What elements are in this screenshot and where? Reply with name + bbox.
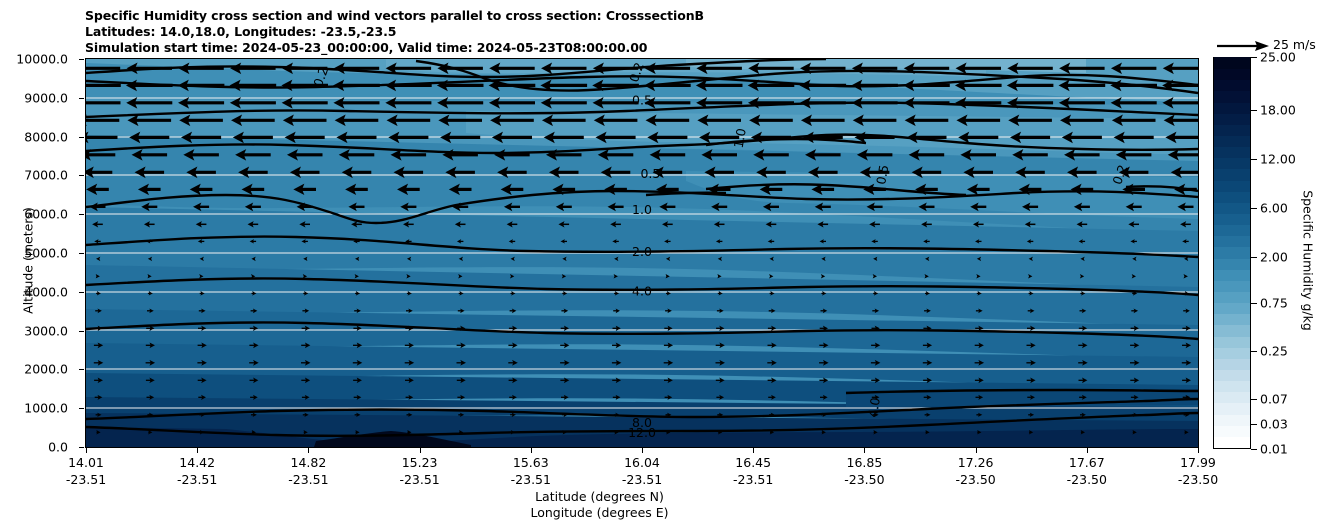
x-tick-mark <box>531 448 532 453</box>
x-tick-label-longitude: -23.51 <box>66 472 106 487</box>
x-tick-label-longitude: -23.51 <box>511 472 551 487</box>
x-tick-mark <box>308 448 309 453</box>
x-tick-label-latitude: 17.67 <box>1069 455 1105 470</box>
x-tick-label-latitude: 16.45 <box>735 455 771 470</box>
x-tick-mark <box>864 448 865 453</box>
colorbar-band <box>1214 158 1250 170</box>
x-tick-label-longitude: -23.51 <box>288 472 328 487</box>
colorbar-band <box>1214 403 1250 415</box>
colorbar-label: Specific Humidity g/kg <box>1301 131 1316 391</box>
x-axis-tick-labels: 14.01-23.5114.42-23.5114.82-23.5115.23-2… <box>0 0 1326 526</box>
colorbar-band <box>1214 436 1250 448</box>
colorbar-band <box>1214 302 1250 314</box>
colorbar-tick-mark <box>1251 351 1257 352</box>
x-axis-title-longitude: Longitude (degrees E) <box>0 505 1199 520</box>
colorbar-tick-label: 0.25 <box>1260 344 1288 359</box>
colorbar-band <box>1214 68 1250 80</box>
colorbar-band <box>1214 369 1250 381</box>
x-tick-label-latitude: 14.01 <box>68 455 104 470</box>
colorbar-band <box>1214 135 1250 147</box>
colorbar-band <box>1214 269 1250 281</box>
colorbar-band <box>1214 314 1250 326</box>
x-tick-label-latitude: 15.23 <box>402 455 438 470</box>
colorbar-band <box>1214 191 1250 203</box>
colorbar-band <box>1214 236 1250 248</box>
x-tick-mark <box>976 448 977 453</box>
x-tick-label-longitude: -23.50 <box>1178 472 1218 487</box>
colorbar-band <box>1214 169 1250 181</box>
colorbar-tick-label: 0.75 <box>1260 296 1288 311</box>
colorbar-tick-label: 18.00 <box>1260 102 1296 117</box>
colorbar-band <box>1214 291 1250 303</box>
colorbar-tick-mark <box>1251 399 1257 400</box>
colorbar-tick-mark <box>1251 110 1257 111</box>
colorbar-tick-label: 12.00 <box>1260 151 1296 166</box>
x-tick-label-longitude: -23.51 <box>399 472 439 487</box>
x-tick-mark <box>1087 448 1088 453</box>
x-tick-mark <box>197 448 198 453</box>
colorbar-band <box>1214 202 1250 214</box>
colorbar-tick-mark <box>1251 303 1257 304</box>
colorbar-band <box>1214 358 1250 370</box>
colorbar-band <box>1214 280 1250 292</box>
colorbar-band <box>1214 57 1250 69</box>
colorbar-tick-mark <box>1251 449 1257 450</box>
colorbar-band <box>1214 347 1250 359</box>
colorbar-band <box>1214 336 1250 348</box>
x-tick-mark <box>420 448 421 453</box>
colorbar-tick-label: 0.07 <box>1260 391 1288 406</box>
colorbar-tick-mark <box>1251 159 1257 160</box>
colorbar-band <box>1214 80 1250 92</box>
x-tick-label-latitude: 16.04 <box>624 455 660 470</box>
x-tick-label-latitude: 15.63 <box>513 455 549 470</box>
x-tick-label-latitude: 17.99 <box>1180 455 1216 470</box>
x-tick-mark <box>1198 448 1199 453</box>
x-tick-label-longitude: -23.51 <box>733 472 773 487</box>
x-tick-label-longitude: -23.51 <box>177 472 217 487</box>
x-tick-label-longitude: -23.50 <box>1067 472 1107 487</box>
x-tick-label-latitude: 14.42 <box>179 455 215 470</box>
colorbar-band <box>1214 146 1250 158</box>
colorbar-tick-mark <box>1251 257 1257 258</box>
colorbar-tick-mark <box>1251 57 1257 58</box>
colorbar-tick-label: 0.03 <box>1260 417 1288 432</box>
x-tick-label-latitude: 16.85 <box>846 455 882 470</box>
colorbar-band <box>1214 414 1250 426</box>
colorbar-band <box>1214 213 1250 225</box>
colorbar-band <box>1214 224 1250 236</box>
colorbar-tick-label: 6.00 <box>1260 200 1288 215</box>
x-tick-label-longitude: -23.51 <box>622 472 662 487</box>
x-tick-label-latitude: 17.26 <box>958 455 994 470</box>
x-tick-mark <box>642 448 643 453</box>
colorbar-band <box>1214 425 1250 437</box>
colorbar-tick-label: 2.00 <box>1260 249 1288 264</box>
colorbar-band <box>1214 180 1250 192</box>
x-tick-label-longitude: -23.50 <box>844 472 884 487</box>
colorbar-band <box>1214 392 1250 404</box>
colorbar-tick-mark <box>1251 208 1257 209</box>
colorbar <box>1213 57 1251 449</box>
colorbar-band <box>1214 258 1250 270</box>
colorbar-tick-label: 25.00 <box>1260 50 1296 65</box>
colorbar-tick-label: 0.01 <box>1260 442 1288 457</box>
colorbar-band <box>1214 380 1250 392</box>
colorbar-band <box>1214 91 1250 103</box>
colorbar-band <box>1214 247 1250 259</box>
colorbar-band <box>1214 102 1250 114</box>
colorbar-band <box>1214 124 1250 136</box>
colorbar-tick-mark <box>1251 424 1257 425</box>
x-tick-mark <box>753 448 754 453</box>
x-tick-label-latitude: 14.82 <box>290 455 326 470</box>
chart-figure: Specific Humidity cross section and wind… <box>0 0 1326 526</box>
x-axis-title-latitude: Latitude (degrees N) <box>0 489 1199 504</box>
colorbar-band <box>1214 113 1250 125</box>
colorbar-band <box>1214 325 1250 337</box>
x-tick-label-longitude: -23.50 <box>955 472 995 487</box>
x-tick-mark <box>86 448 87 453</box>
